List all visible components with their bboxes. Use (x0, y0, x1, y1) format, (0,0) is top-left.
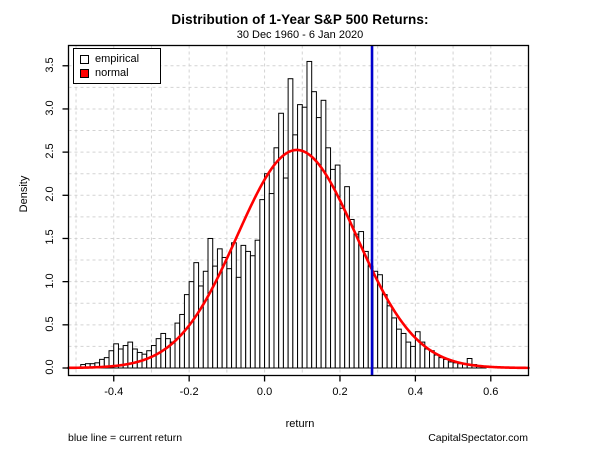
histogram-bar (283, 178, 288, 368)
histogram-bar (265, 174, 270, 368)
histogram-bar (448, 362, 453, 368)
histogram-bar (321, 100, 326, 368)
y-tick-label: 3.0 (44, 93, 56, 123)
histogram-bar (312, 92, 317, 368)
histogram-bar (307, 61, 312, 368)
histogram-bar (175, 323, 180, 368)
chart-figure: Distribution of 1-Year S&P 500 Returns: … (0, 0, 600, 450)
y-tick-label: 2.5 (44, 136, 56, 166)
footnote-current-return: blue line = current return (68, 432, 182, 444)
histogram-bar (411, 346, 416, 368)
histogram-bar (302, 107, 307, 368)
histogram-bar (255, 240, 260, 368)
x-tick-label: 0.4 (395, 386, 435, 398)
histogram-bar (227, 269, 232, 368)
histogram-bar (340, 208, 345, 368)
histogram-bar (274, 148, 279, 368)
histogram-bar (392, 318, 397, 368)
histogram-bar (425, 349, 430, 368)
histogram-bar (203, 271, 208, 368)
histogram-bars (81, 61, 486, 368)
x-tick-label: 0.6 (471, 386, 511, 398)
histogram-bar (316, 118, 321, 368)
legend-item-normal: normal (80, 66, 129, 81)
histogram-bar (180, 314, 185, 368)
histogram-bar (373, 271, 378, 368)
histogram-bar (246, 251, 251, 368)
histogram-bar (236, 277, 241, 368)
histogram-bar (397, 329, 402, 368)
histogram-bar (364, 251, 369, 368)
legend-item-empirical: empirical (80, 52, 139, 67)
histogram-bar (222, 257, 227, 368)
histogram-bar (331, 169, 336, 368)
histogram-bar (434, 355, 439, 368)
x-tick-label: 0.0 (245, 386, 285, 398)
histogram-bar (293, 135, 298, 368)
histogram-bar (453, 363, 458, 368)
histogram-bar (208, 238, 213, 368)
y-tick-label: 2.0 (44, 179, 56, 209)
histogram-bar (166, 339, 171, 368)
histogram-bar (260, 200, 265, 368)
legend-label-normal: normal (95, 68, 129, 79)
histogram-bar (250, 256, 255, 368)
histogram-bar (288, 79, 293, 368)
x-tick-label: 0.2 (320, 386, 360, 398)
histogram-bar (382, 295, 387, 368)
histogram-bar (298, 105, 303, 368)
histogram-bar (387, 306, 392, 368)
histogram-bar (401, 333, 406, 368)
histogram-bar (199, 286, 204, 368)
legend-swatch-normal (80, 69, 89, 78)
legend-label-empirical: empirical (95, 54, 139, 65)
x-tick-label: -0.4 (94, 386, 134, 398)
y-tick-label: 3.5 (44, 50, 56, 80)
histogram-bar (406, 342, 411, 368)
y-tick-label: 0.5 (44, 309, 56, 339)
histogram-bar (217, 249, 222, 368)
footnote-source: CapitalSpectator.com (428, 432, 528, 444)
histogram-bar (444, 359, 449, 368)
histogram-bar (269, 194, 274, 368)
histogram-bar (241, 245, 246, 368)
y-tick-label: 1.0 (44, 266, 56, 296)
histogram-bar (279, 113, 284, 368)
y-tick-label: 1.5 (44, 222, 56, 252)
histogram-bar (349, 219, 354, 368)
histogram-bar (354, 234, 359, 368)
histogram-bar (232, 243, 237, 368)
histogram-bar (439, 358, 444, 368)
y-tick-label: 0.0 (44, 352, 56, 382)
histogram-bar (133, 349, 138, 368)
legend-swatch-empirical (80, 55, 89, 64)
x-tick-label: -0.2 (169, 386, 209, 398)
chart-legend: empirical normal (73, 48, 161, 84)
